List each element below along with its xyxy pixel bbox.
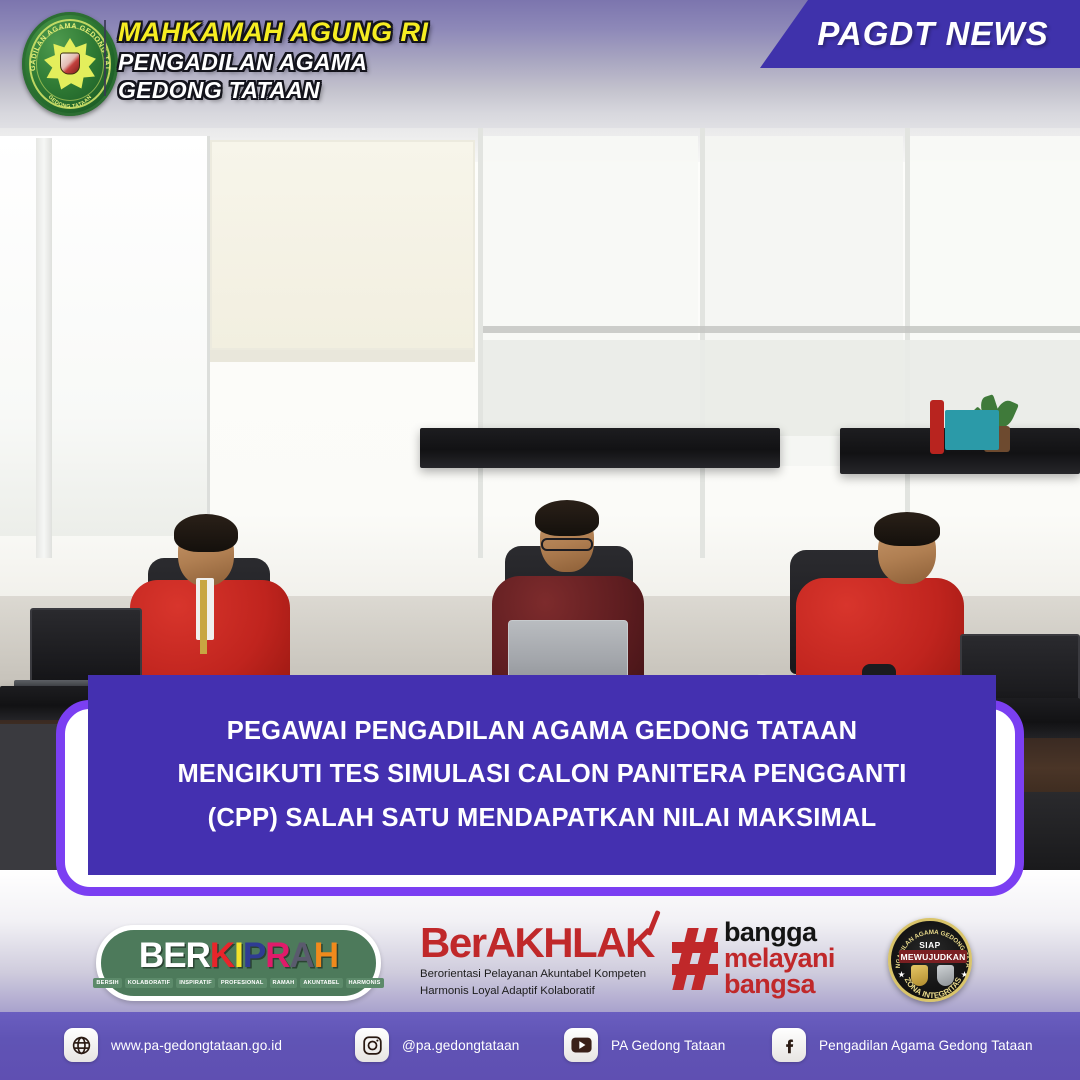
social-label-instagram: @pa.gedongtataan [402, 1038, 519, 1053]
photo-column [36, 138, 52, 558]
photo-person-1-hair [174, 514, 238, 552]
berakhlak-wordmark: BerAKHLAK [420, 922, 650, 964]
berkiprah-letter-2: R [186, 938, 210, 973]
news-tag-label: PAGDT NEWS [791, 15, 1048, 53]
berkiprah-value-4: RAMAH [270, 978, 298, 988]
zi-shield-left-icon [911, 965, 928, 986]
header-banner: PENGADILAN AGAMA GEDONG TATAAN GEDONG TA… [0, 0, 1080, 128]
emblem-shield-shape [60, 53, 80, 75]
photo-glass-rail [483, 326, 1080, 333]
photo-rear-cabinet-1 [420, 428, 780, 468]
photo-teal-box [945, 410, 999, 450]
caption-line-2: MENGIKUTI TES SIMULASI CALON PANITERA PE… [177, 762, 906, 788]
bangga-line-2: melayani [724, 946, 835, 972]
social-label-facebook: Pengadilan Agama Gedong Tataan [819, 1038, 1033, 1053]
berkiprah-letter-0: B [139, 938, 163, 973]
berakhlak-akhlak: AKHLAK [486, 919, 654, 966]
berkiprah-letter-6: R [265, 938, 289, 973]
photo-person-3-hair [874, 512, 940, 546]
photo-blind-rail [210, 350, 475, 362]
berkiprah-letter-7: A [290, 938, 314, 973]
berakhlak-sub-2: Harmonis Loyal Adaptif Kolaboratif [420, 984, 650, 998]
svg-text:GEDONG TATAAN: GEDONG TATAAN [47, 94, 94, 110]
berkiprah-value-5: AKUNTABEL [300, 978, 342, 988]
hashtag-icon [672, 928, 718, 990]
photo-laptop-1 [30, 608, 142, 682]
berkiprah-letter-5: P [243, 938, 265, 973]
instagram-icon [355, 1028, 389, 1062]
berkiprah-value-2: INSPIRATIF [176, 978, 215, 988]
photo-foreground-object [0, 724, 64, 870]
social-item-youtube[interactable]: PA Gedong Tataan [564, 1028, 725, 1062]
title-mahkamah-agung: MAHKAMAH AGUNG RI [118, 18, 428, 47]
berkiprah-value-0: BERSIH [93, 978, 121, 988]
youtube-icon [564, 1028, 598, 1062]
berkiprah-letter-8: H [314, 938, 338, 973]
caption-line-3: (CPP) SALAH SATU MENDAPATKAN NILAI MAKSI… [208, 806, 877, 832]
title-gedong-tataan: GEDONG TATAAN [118, 78, 428, 104]
social-label-website: www.pa-gedongtataan.go.id [111, 1038, 282, 1053]
berkiprah-value-6: HARMONIS [346, 978, 384, 988]
berkiprah-logo: BERKIPRAH BERSIHKOLABORATIFINSPIRATIFPRO… [96, 925, 381, 1001]
zi-shield-right-icon [937, 965, 954, 986]
photo-window-left [0, 136, 210, 536]
bangga-line-3: bangsa [724, 972, 835, 998]
social-item-facebook[interactable]: Pengadilan Agama Gedong Tataan [772, 1028, 1033, 1062]
berkiprah-letter-3: K [210, 938, 234, 973]
berkiprah-value-1: KOLABORATIF [125, 978, 174, 988]
berakhlak-sub-1: Berorientasi Pelayanan Akuntabel Kompete… [420, 967, 650, 981]
berkiprah-values: BERSIHKOLABORATIFINSPIRATIFPROFESIONALRA… [93, 978, 383, 988]
photo-person-1-lanyard [200, 580, 207, 654]
berakhlak-sub-text-1: Berorientasi Pelayanan Akuntabel Kompete… [420, 968, 646, 980]
court-logo: PENGADILAN AGAMA GEDONG TATAAN GEDONG TA… [22, 12, 126, 116]
social-label-youtube: PA Gedong Tataan [611, 1038, 725, 1053]
photo-person-2-hair [535, 500, 599, 536]
berkiprah-letter-4: I [234, 938, 243, 973]
globe-icon [64, 1028, 98, 1062]
bangga-words: bangga melayani bangsa [724, 920, 835, 998]
photo-person-2-glasses [541, 538, 593, 551]
header-divider [104, 20, 106, 96]
zi-mewujudkan-label: MEWUJUDKAN [899, 950, 967, 963]
news-tag-badge: PAGDT NEWS [760, 0, 1080, 68]
social-item-website[interactable]: www.pa-gedongtataan.go.id [64, 1028, 282, 1062]
berakhlak-logo: BerAKHLAK Berorientasi Pelayanan Akuntab… [420, 922, 650, 999]
berkiprah-letter-1: E [163, 938, 185, 973]
berkiprah-word: BERKIPRAH [139, 938, 338, 973]
social-footer-bar: www.pa-gedongtataan.go.id @pa.gedongtata… [0, 1012, 1080, 1080]
header-titles: MAHKAMAH AGUNG RI PENGADILAN AGAMA GEDON… [118, 18, 428, 104]
caption-box: PEGAWAI PENGADILAN AGAMA GEDONG TATAAN M… [88, 675, 996, 875]
berakhlak-ber: Ber [420, 919, 486, 966]
berkiprah-value-3: PROFESIONAL [218, 978, 267, 988]
zona-integritas-badge: PENGADILAN AGAMA GEDONG TATAAN ZONA INTE… [888, 918, 972, 1002]
bangga-melayani-bangsa-logo: bangga melayani bangsa [672, 920, 862, 998]
photo-red-object [930, 400, 944, 454]
social-item-instagram[interactable]: @pa.gedongtataan [355, 1028, 519, 1062]
photo-window-blind [210, 140, 475, 350]
berakhlak-sub-text-2: Harmonis Loyal Adaptif Kolaboratif [420, 985, 595, 997]
zi-siap-label: SIAP [891, 940, 969, 950]
facebook-icon [772, 1028, 806, 1062]
title-pengadilan-agama: PENGADILAN AGAMA [118, 50, 428, 76]
caption-line-1: PEGAWAI PENGADILAN AGAMA GEDONG TATAAN [227, 719, 857, 745]
